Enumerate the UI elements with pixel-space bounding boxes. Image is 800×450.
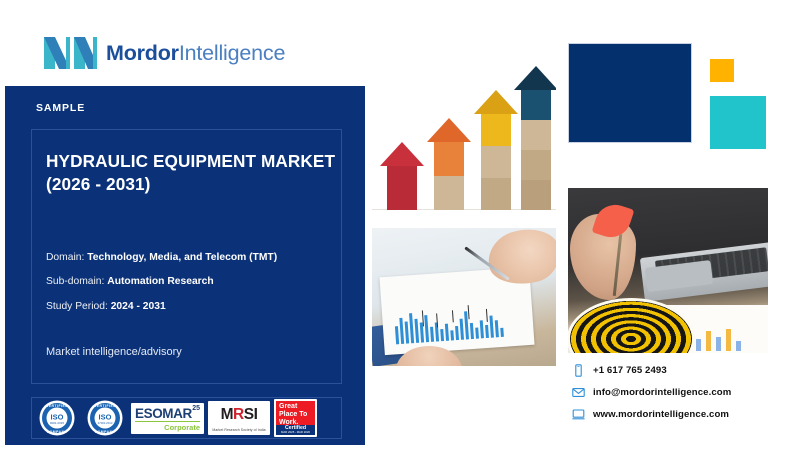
teal-square — [710, 96, 766, 149]
gptw-headline: Great Place To Work. — [276, 401, 315, 425]
contact-phone-text: +1 617 765 2493 — [593, 365, 667, 376]
mrsi-label: MRSI — [208, 406, 270, 424]
sample-label: SAMPLE — [36, 102, 85, 114]
contact-email-row[interactable]: info@mordorintelligence.com — [572, 386, 731, 399]
contact-phone-row[interactable]: +1 617 765 2493 — [572, 364, 731, 377]
iso-certified-company-badge: ISO 9001:2015 CERTIFIED COMPANY — [35, 399, 79, 437]
iso-certified-company-badge-2: ISO 27001:2013 CERTIFIED COMPANY — [83, 399, 127, 437]
svg-text:CERTIFIED: CERTIFIED — [46, 404, 68, 408]
paper-bar-chart — [391, 292, 522, 345]
esomar-corporate-label: Corporate — [164, 423, 200, 432]
report-meta-list: Domain: Technology, Media, and Telecom (… — [46, 253, 338, 326]
meta-key-subdomain: Sub-domain: — [46, 276, 104, 287]
meta-value-study-period: 2024 - 2031 — [111, 301, 166, 312]
esomar-label: ESOMAR — [135, 406, 192, 421]
dart-target-photo — [568, 188, 768, 353]
block-house-1 — [380, 142, 424, 210]
meta-key-domain: Domain: — [46, 252, 84, 263]
meta-value-subdomain: Automation Research — [107, 276, 213, 287]
page-title: HYDRAULIC EQUIPMENT MARKET (2026 - 2031) — [46, 150, 336, 197]
mrsi-sublabel: Market Research Society of India — [210, 428, 268, 432]
contact-email-text: info@mordorintelligence.com — [593, 387, 731, 398]
advisory-label: Market intelligence/advisory — [46, 346, 182, 358]
certification-badge-box: ISO 9001:2015 CERTIFIED COMPANY ISO 2700… — [31, 397, 342, 439]
contact-website-row[interactable]: www.mordorintelligence.com — [572, 408, 731, 421]
mrsi-badge: MRSI Market Research Society of India — [208, 401, 270, 435]
brand-name-light: Intelligence — [179, 41, 285, 65]
contact-info-list: +1 617 765 2493 info@mordorintelligence.… — [572, 364, 731, 430]
brand-name-bold: Mordor — [106, 41, 179, 65]
phone-icon — [572, 364, 585, 377]
block-house-3 — [474, 90, 518, 210]
report-info-panel: SAMPLE HYDRAULIC EQUIPMENT MARKET (2026 … — [5, 86, 365, 445]
esomar-badge: ESOMAR 25 Corporate — [131, 403, 204, 434]
contact-website-text: www.mordorintelligence.com — [593, 409, 729, 420]
wooden-blocks-growth-image — [372, 12, 556, 224]
esomar-superscript: 25 — [192, 405, 200, 412]
orange-square — [710, 59, 734, 82]
monitor-icon — [572, 408, 585, 421]
brand-logo[interactable]: MordorIntelligence — [44, 36, 285, 70]
meta-row-domain: Domain: Technology, Media, and Telecom (… — [46, 253, 338, 263]
report-details-box: HYDRAULIC EQUIPMENT MARKET (2026 - 2031)… — [31, 129, 342, 384]
meta-row-study-period: Study Period: 2024 - 2031 — [46, 302, 338, 312]
svg-text:CERTIFIED: CERTIFIED — [94, 404, 116, 408]
meta-value-domain: Technology, Media, and Telecom (TMT) — [87, 252, 277, 263]
mordor-m-mark-icon — [44, 36, 97, 70]
navy-square — [568, 43, 692, 143]
great-place-to-work-badge: Great Place To Work. Certified MAR 2025 … — [274, 399, 317, 437]
svg-text:COMPANY: COMPANY — [47, 430, 68, 434]
email-icon — [572, 386, 585, 399]
meta-key-study-period: Study Period: — [46, 301, 108, 312]
meta-row-subdomain: Sub-domain: Automation Research — [46, 277, 338, 287]
report-cover-page: MordorIntelligence SAMPLE HYDRAULIC EQUI… — [0, 0, 800, 450]
gptw-period: MAR 2025 - MAR 2026 — [276, 431, 315, 434]
brand-name: MordorIntelligence — [106, 41, 285, 66]
svg-text:27001:2013: 27001:2013 — [98, 421, 113, 425]
block-house-2 — [427, 118, 471, 210]
svg-text:COMPANY: COMPANY — [95, 430, 116, 434]
printed-chart-photo — [372, 228, 556, 366]
svg-text:9001:2015: 9001:2015 — [50, 421, 65, 425]
gptw-certified-label: Certified MAR 2025 - MAR 2026 — [276, 425, 315, 435]
block-house-4 — [514, 66, 556, 210]
